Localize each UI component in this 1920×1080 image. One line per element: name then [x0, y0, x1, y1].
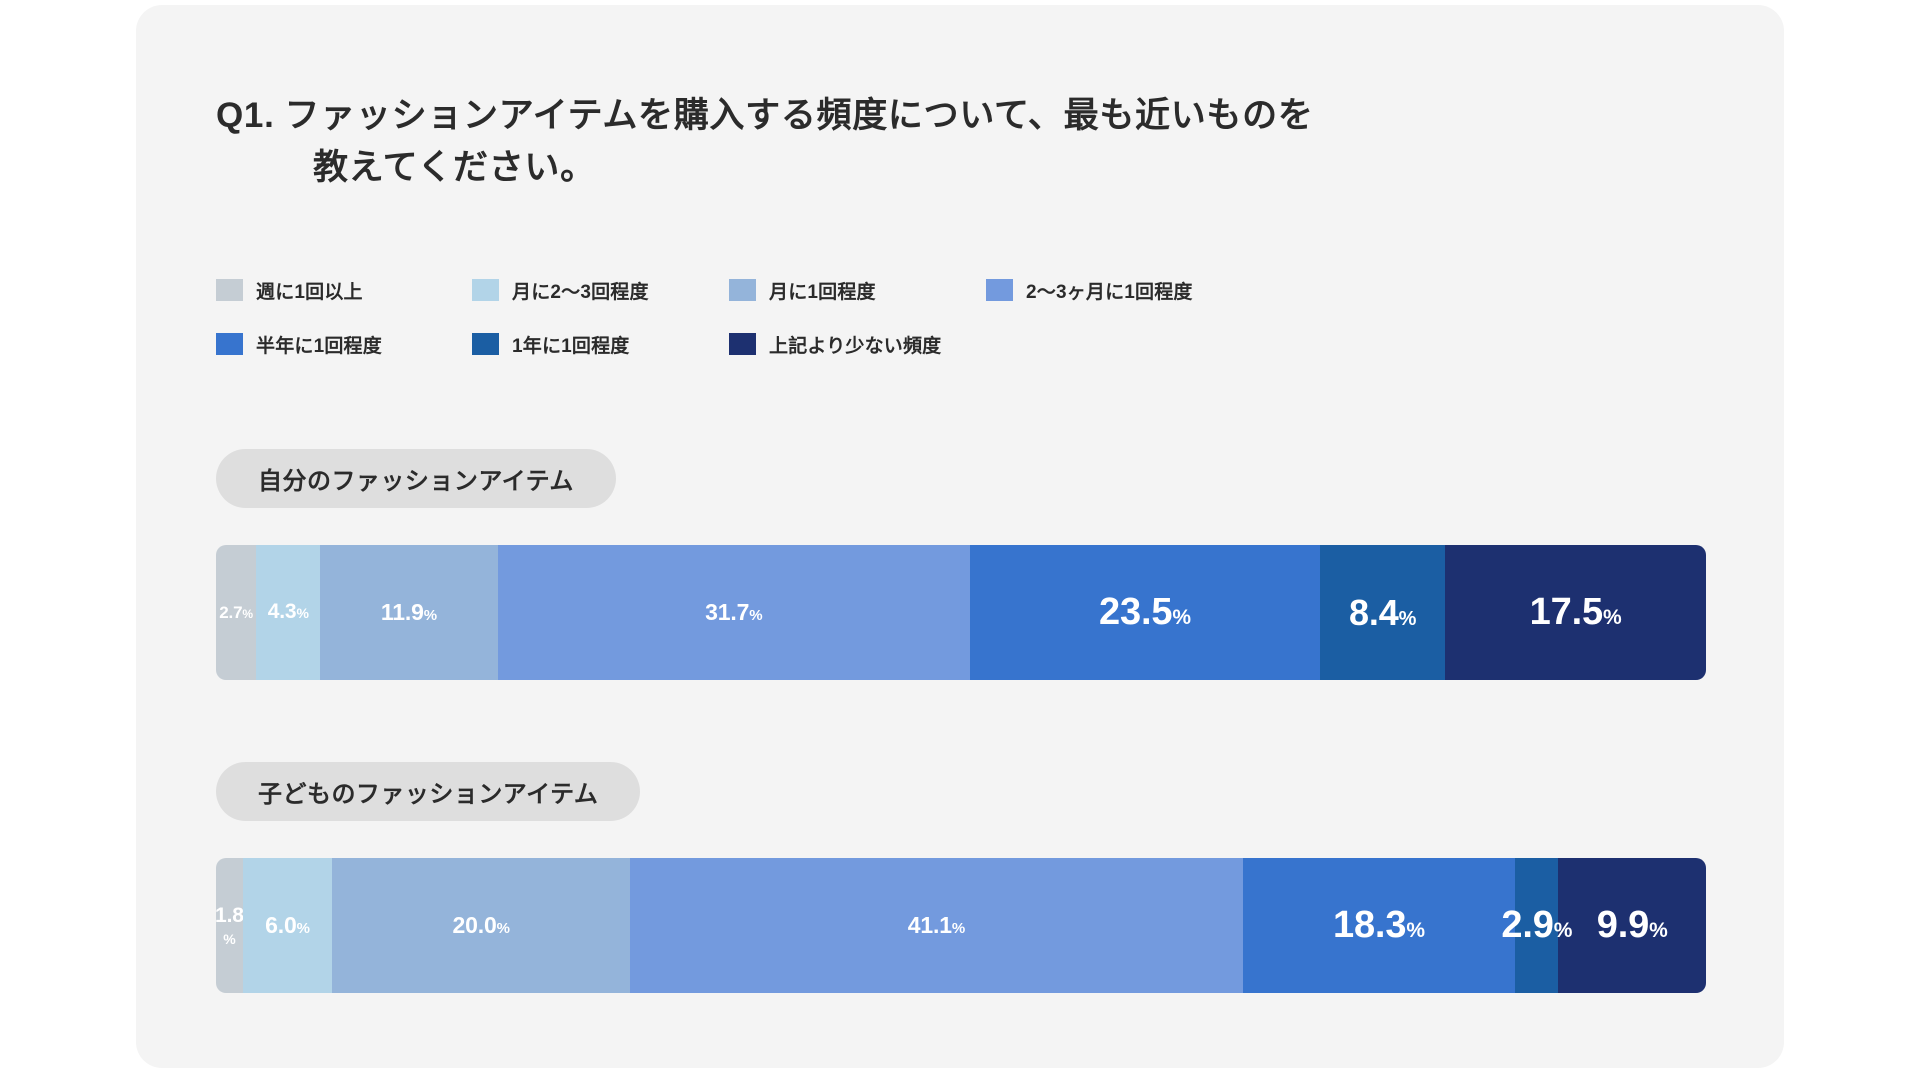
bar-segment-label: 4.3% — [268, 601, 309, 623]
legend-label: 週に1回以上 — [256, 277, 363, 304]
page-title: Q1. ファッションアイテムを購入する頻度について、最も近いものを 教えてくださ… — [216, 90, 1616, 194]
bar-segment-value: 31.7 — [705, 600, 749, 624]
legend-swatch-icon — [729, 333, 756, 355]
bar-segment-label: 17.5% — [1530, 593, 1622, 633]
bar-segment-percent-sign: % — [1649, 920, 1668, 942]
bar-segment: 31.7% — [498, 545, 970, 680]
legend-label: 半年に1回程度 — [256, 331, 382, 358]
bar-segment-label: 11.9% — [381, 600, 437, 624]
legend-label: 上記より少ない頻度 — [769, 331, 941, 358]
bar-segment: 41.1% — [630, 858, 1242, 993]
bar-segment: 6.0% — [243, 858, 332, 993]
legend-swatch-icon — [729, 279, 756, 301]
legend-swatch-icon — [986, 279, 1013, 301]
legend-row-2: 半年に1回程度 1年に1回程度 上記より少ない頻度 — [216, 317, 1666, 371]
bar-segment-percent-sign: % — [749, 608, 762, 624]
bar-segment-percent-sign: % — [1406, 920, 1425, 942]
bar-segment-percent-sign: % — [223, 930, 235, 949]
stacked-bar: 2.7%4.3%11.9%31.7%23.5%8.4%17.5% — [216, 545, 1706, 680]
legend-item-2-3-monthly[interactable]: 月に2〜3回程度 — [472, 277, 729, 304]
stacked-bar: 1.8%6.0%20.0%41.1%18.3%2.9%9.9% — [216, 858, 1706, 993]
bar-segment: 2.7% — [216, 545, 256, 680]
bar-segment-value: 23.5 — [1099, 593, 1172, 633]
chart-legend: 週に1回以上 月に2〜3回程度 月に1回程度 2〜3ヶ月に1回程度 — [216, 263, 1666, 371]
bar-segment-percent-sign: % — [297, 921, 310, 937]
bar-segment-percent-sign: % — [424, 608, 437, 624]
legend-item-less-than-above[interactable]: 上記より少ない頻度 — [729, 331, 986, 358]
legend-item-every-2-3-months[interactable]: 2〜3ヶ月に1回程度 — [986, 277, 1286, 304]
legend-swatch-icon — [216, 333, 243, 355]
legend-label: 1年に1回程度 — [512, 331, 629, 358]
bar-segment: 1.8% — [216, 858, 243, 993]
legend-swatch-icon — [472, 333, 499, 355]
bar-segment-value: 11.9 — [381, 600, 424, 624]
bar-segment: 2.9% — [1515, 858, 1558, 993]
legend-swatch-icon — [472, 279, 499, 301]
legend-swatch-icon — [216, 279, 243, 301]
bar-segment-percent-sign: % — [1172, 607, 1191, 629]
bar-segment: 9.9% — [1558, 858, 1706, 993]
legend-item-annual[interactable]: 1年に1回程度 — [472, 331, 729, 358]
title-text-line-2: 教えてください。 — [313, 142, 1616, 194]
bar-segment-value: 2.7 — [219, 604, 242, 622]
bar-segment-value: 6.0 — [265, 913, 297, 937]
bar-segment: 4.3% — [256, 545, 320, 680]
bar-segment-label: 6.0% — [265, 913, 310, 937]
group-label-pill: 子どものファッションアイテム — [216, 762, 640, 821]
chart-group-child-items: 子どものファッションアイテム 1.8%6.0%20.0%41.1%18.3%2.… — [216, 762, 1706, 993]
legend-label: 月に1回程度 — [769, 277, 876, 304]
bar-segment-percent-sign: % — [952, 921, 965, 937]
bar-segment-label: 31.7% — [705, 600, 762, 624]
group-label-pill: 自分のファッションアイテム — [216, 449, 616, 508]
bar-segment-label: 18.3% — [1333, 906, 1425, 946]
bar-segment-percent-sign: % — [242, 608, 253, 621]
bar-segment-value: 4.3 — [268, 601, 297, 623]
bar-segment-label: 9.9% — [1597, 906, 1668, 946]
bar-segment-label: 23.5% — [1099, 593, 1191, 633]
bar-segment-label: 1.8% — [215, 902, 244, 949]
bar-segment-value: 1.8 — [215, 902, 244, 930]
bar-segment: 8.4% — [1320, 545, 1445, 680]
bar-segment-value: 20.0 — [453, 913, 497, 937]
bar-segment: 18.3% — [1243, 858, 1516, 993]
legend-label: 2〜3ヶ月に1回程度 — [1026, 277, 1193, 304]
bar-segment: 11.9% — [320, 545, 497, 680]
bar-segment: 23.5% — [970, 545, 1320, 680]
bar-segment-label: 41.1% — [908, 913, 965, 937]
bar-segment-label: 8.4% — [1349, 594, 1416, 632]
bar-segment-percent-sign: % — [1399, 609, 1417, 630]
bar-segment-percent-sign: % — [497, 921, 510, 937]
title-text-line-1: ファッションアイテムを購入する頻度について、最も近いものを — [285, 90, 1616, 142]
legend-item-weekly[interactable]: 週に1回以上 — [216, 277, 472, 304]
legend-item-monthly[interactable]: 月に1回程度 — [729, 277, 986, 304]
legend-label: 月に2〜3回程度 — [512, 277, 649, 304]
bar-segment-value: 41.1 — [908, 913, 952, 937]
title-line-1: Q1. ファッションアイテムを購入する頻度について、最も近いものを — [216, 90, 1616, 142]
bar-segment-value: 18.3 — [1333, 906, 1406, 946]
chart-group-own-items: 自分のファッションアイテム 2.7%4.3%11.9%31.7%23.5%8.4… — [216, 449, 1706, 680]
bar-segment: 20.0% — [332, 858, 630, 993]
bar-segment-percent-sign: % — [1603, 607, 1622, 629]
legend-row-1: 週に1回以上 月に2〜3回程度 月に1回程度 2〜3ヶ月に1回程度 — [216, 263, 1666, 317]
bar-segment-value: 9.9 — [1597, 906, 1649, 946]
title-line-2: 教えてください。 — [216, 142, 1616, 194]
bar-segment-value: 8.4 — [1349, 594, 1399, 632]
legend-item-semiannual[interactable]: 半年に1回程度 — [216, 331, 472, 358]
bar-segment-value: 17.5 — [1530, 593, 1603, 633]
bar-segment: 17.5% — [1445, 545, 1706, 680]
page-root: Q1. ファッションアイテムを購入する頻度について、最も近いものを 教えてくださ… — [0, 0, 1920, 1080]
chart-card: Q1. ファッションアイテムを購入する頻度について、最も近いものを 教えてくださ… — [136, 5, 1784, 1068]
bar-segment-label: 2.7% — [219, 604, 253, 622]
question-number: Q1. — [216, 90, 275, 142]
bar-segment-label: 20.0% — [453, 913, 510, 937]
bar-segment-percent-sign: % — [296, 606, 308, 621]
